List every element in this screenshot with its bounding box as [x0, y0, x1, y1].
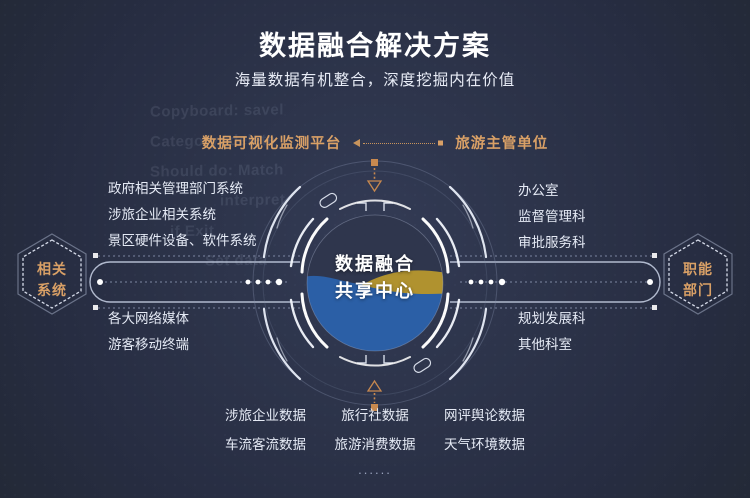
hexagon-line-1: 职能 [683, 259, 713, 280]
list-item: 规划发展科 [518, 306, 586, 332]
left-hexagon-text: 相关 系统 [8, 232, 96, 328]
arrow-dashed-line [363, 143, 435, 144]
list-item: 景区硬件设备、软件系统 [108, 228, 257, 254]
bottom-row: 涉旅企业数据 旅行社数据 网评舆论数据 [225, 404, 525, 424]
right-hexagon-badge: 职能 部门 [654, 232, 742, 328]
right-hexagon-text: 职能 部门 [654, 232, 742, 328]
list-item: 涉旅企业数据 [225, 404, 306, 424]
hexagon-line-2: 部门 [683, 280, 713, 301]
arrow-head-icon [353, 139, 360, 147]
top-link-row: 数据可视化监测平台 旅游主管单位 [0, 132, 750, 153]
flow-arrow-icon [353, 137, 443, 149]
list-item: 游客移动终端 [108, 332, 189, 358]
tourism-authority-label[interactable]: 旅游主管单位 [455, 132, 548, 153]
left-hexagon-badge: 相关 系统 [8, 232, 96, 328]
hexagon-line-2: 系统 [37, 280, 67, 301]
arrow-endpoint-dot [438, 140, 443, 145]
list-item: 其他科室 [518, 332, 586, 358]
ring-tab-top [318, 192, 338, 209]
bottom-data-source-grid: 涉旅企业数据 旅行社数据 网评舆论数据 车流客流数据 旅游消费数据 天气环境数据… [225, 404, 525, 477]
list-item: 各大网络媒体 [108, 306, 189, 332]
page-subtitle: 海量数据有机整合，深度挖掘内在价值 [0, 68, 750, 90]
right-bottom-item-group: 规划发展科 其他科室 [518, 306, 586, 358]
inner-bracket-bottom [357, 355, 393, 363]
list-item: 旅行社数据 [341, 404, 409, 424]
ring-tab-bottom [412, 357, 432, 374]
center-core-circle [300, 215, 452, 360]
list-item: 天气环境数据 [444, 433, 525, 453]
left-top-item-group: 政府相关管理部门系统 涉旅企业相关系统 景区硬件设备、软件系统 [108, 176, 257, 254]
infographic-canvas: Copyboard: savel Category: delete Should… [0, 0, 750, 498]
visualization-platform-label[interactable]: 数据可视化监测平台 [202, 132, 342, 153]
top-marker [368, 159, 381, 191]
list-item: 网评舆论数据 [444, 404, 525, 424]
list-item: 涉旅企业相关系统 [108, 202, 257, 228]
left-connector-pipe [90, 253, 300, 310]
list-item: 政府相关管理部门系统 [108, 176, 257, 202]
list-item: 车流客流数据 [225, 433, 306, 453]
inner-bracket-top [357, 203, 393, 211]
ellipsis-label: ...... [225, 462, 525, 477]
list-item: 监督管理科 [518, 204, 586, 230]
list-item: 审批服务科 [518, 230, 586, 256]
hexagon-line-1: 相关 [37, 259, 67, 280]
page-title: 数据融合解决方案 [0, 24, 750, 63]
bottom-row: 车流客流数据 旅游消费数据 天气环境数据 [225, 433, 525, 453]
right-connector-pipe [450, 253, 660, 310]
right-top-item-group: 办公室 监督管理科 审批服务科 [518, 178, 586, 256]
list-item: 办公室 [518, 178, 586, 204]
list-item: 旅游消费数据 [335, 433, 416, 453]
left-bottom-item-group: 各大网络媒体 游客移动终端 [108, 306, 189, 358]
